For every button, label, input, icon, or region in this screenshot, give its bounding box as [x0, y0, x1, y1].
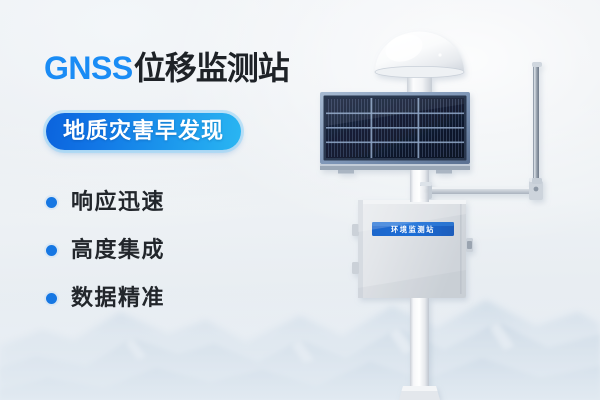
instrument-enclosure: 环境监测站: [352, 200, 473, 298]
list-item: 数据精准: [46, 274, 165, 322]
headline-suffix: 位移监测站: [134, 50, 289, 86]
feature-label: 数据精准: [71, 287, 165, 309]
tagline-badge: 地质灾害早发现: [46, 113, 241, 150]
headline-brand: GNSS: [44, 50, 133, 86]
bullet-dot-icon: [46, 245, 57, 256]
bullet-dot-icon: [46, 197, 57, 208]
promo-text-block: GNSS位移监测站 地质灾害早发现 响应迅速 高度集成 数据精准: [0, 0, 340, 400]
list-item: 响应迅速: [46, 178, 165, 226]
monitoring-station-illustration: 环境监测站: [300, 0, 600, 400]
feature-label: 响应迅速: [71, 191, 165, 213]
promo-banner: 环境监测站 GNSS位移监测站 地质灾害早发现: [0, 0, 600, 400]
bullet-dot-icon: [46, 293, 57, 304]
feature-label: 高度集成: [71, 239, 165, 261]
page-title: GNSS位移监测站: [44, 52, 289, 84]
list-item: 高度集成: [46, 226, 165, 274]
solar-panel: [320, 92, 470, 174]
antenna-bracket-arm: [420, 178, 543, 200]
enclosure-label-text: 环境监测站: [391, 225, 435, 234]
feature-list: 响应迅速 高度集成 数据精准: [46, 178, 165, 322]
whip-antenna-rod: [532, 62, 542, 184]
